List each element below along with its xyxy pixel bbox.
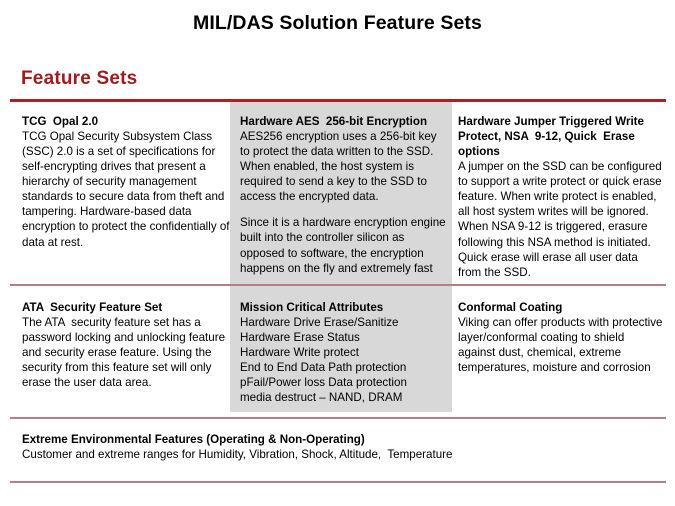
feature-title: Extreme Environmental Features (Operatin… [22,432,662,447]
feature-cell-conformal-coating: Conformal Coating Viking can offer produ… [458,300,664,375]
feature-body: A jumper on the SSD can be configured to… [458,159,664,280]
feature-title: Conformal Coating [458,300,664,315]
feature-title: Hardware AES 256-bit Encryption [240,114,446,129]
feature-title: Mission Critical Attributes [240,300,446,315]
feature-cell-hardware-jumper: Hardware Jumper Triggered Write Protect,… [458,114,664,280]
feature-body: Customer and extreme ranges for Humidity… [22,447,662,462]
feature-title: ATA Security Feature Set [22,300,230,315]
slide-canvas: MIL/DAS Solution Feature Sets Feature Se… [0,0,675,506]
feature-cell-tcg-opal: TCG Opal 2.0 TCG Opal Security Subsystem… [22,114,230,250]
feature-body: The ATA security feature set has a passw… [22,315,230,390]
divider-bottom [10,481,666,483]
feature-cell-extreme-environmental: Extreme Environmental Features (Operatin… [22,432,662,462]
feature-body-paragraph-2: Since it is a hardware encryption engine… [240,215,446,275]
section-header-feature-sets: Feature Sets [21,68,137,90]
feature-body-paragraph-1: AES256 encryption uses a 256-bit key to … [240,129,446,204]
feature-body: TCG Opal Security Subsystem Class (SSC) … [22,129,230,250]
feature-title: TCG Opal 2.0 [22,114,230,129]
feature-title: Hardware Jumper Triggered Write Protect,… [458,114,664,159]
page-title: MIL/DAS Solution Feature Sets [0,12,675,35]
feature-cell-ata-security: ATA Security Feature Set The ATA securit… [22,300,230,390]
feature-cell-hardware-aes: Hardware AES 256-bit Encryption AES256 e… [240,114,446,276]
divider-row1-row2 [10,284,666,286]
feature-body: Viking can offer products with protectiv… [458,315,664,375]
feature-cell-mission-critical: Mission Critical Attributes Hardware Dri… [240,300,446,405]
feature-body: Hardware Drive Erase/Sanitize Hardware E… [240,315,446,405]
divider-row2-row3 [10,417,666,419]
